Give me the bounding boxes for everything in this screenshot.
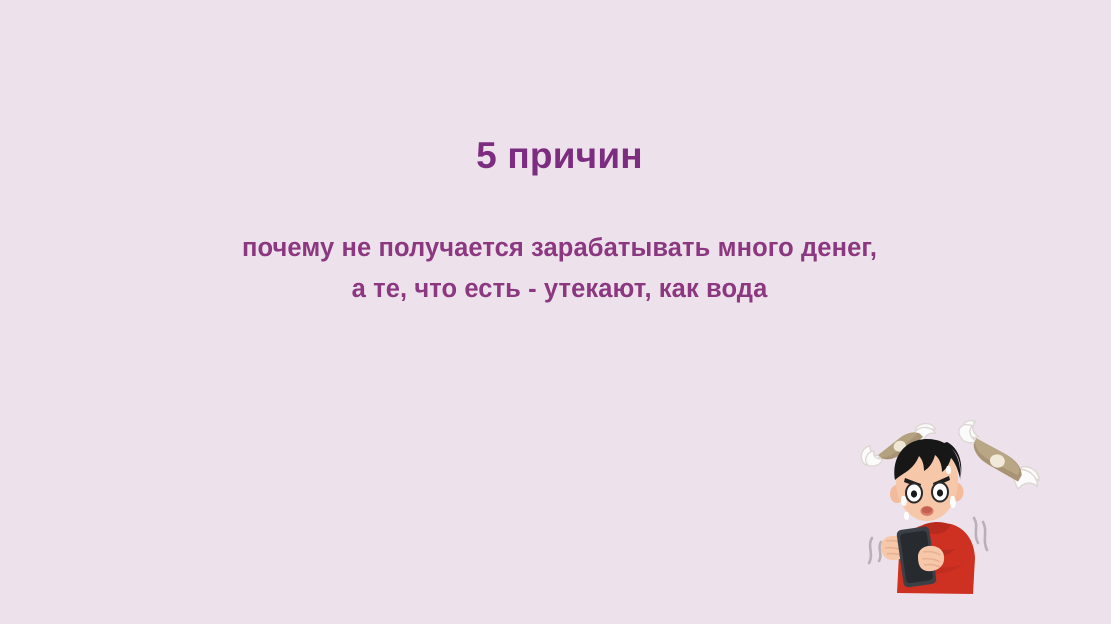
subtitle-line-2: а те, что есть - утекают, как вода xyxy=(8,269,1111,310)
flying-banknote-right-icon xyxy=(949,418,1049,493)
head xyxy=(890,439,964,521)
page-title: 5 причин xyxy=(0,136,1111,177)
subtitle: почему не получается зарабатывать много … xyxy=(0,228,1111,311)
slide-canvas: 5 причин почему не получается зарабатыва… xyxy=(0,0,1111,624)
worried-man-with-phone-illustration xyxy=(843,418,1073,618)
subtitle-line-1: почему не получается зарабатывать много … xyxy=(8,228,1111,269)
text-block: 5 причин почему не получается зарабатыва… xyxy=(0,136,1111,310)
